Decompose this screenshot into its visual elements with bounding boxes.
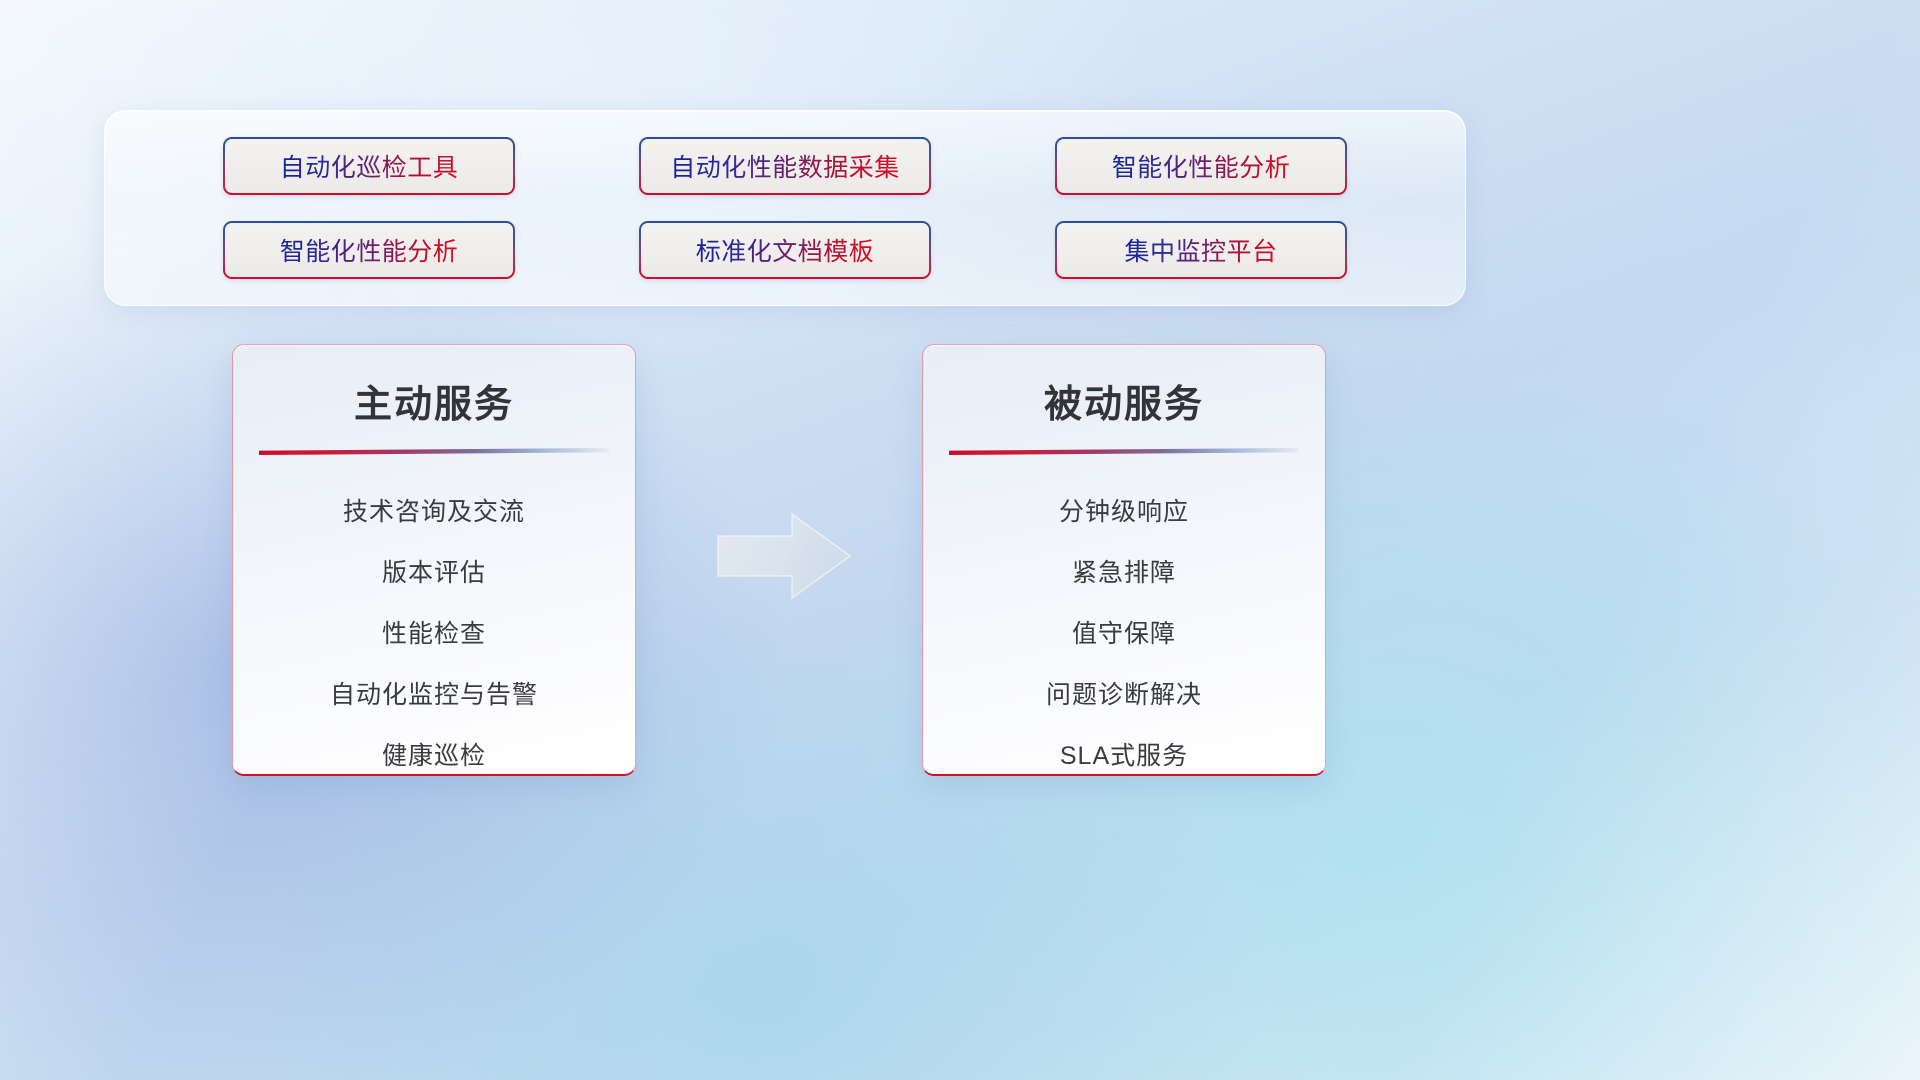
service-card-reactive-divider bbox=[949, 448, 1299, 456]
capability-pill-4-label: 智能化性能分析 bbox=[280, 232, 459, 268]
capability-pill-5-body: 标准化文档模板 bbox=[641, 223, 929, 277]
capabilities-grid: 自动化巡检工具 自动化性能数据采集 智能化性能分析 智能化性能分析 标准化文档模… bbox=[105, 111, 1465, 305]
list-item: 版本评估 bbox=[233, 543, 635, 604]
capability-pill-1[interactable]: 自动化巡检工具 bbox=[223, 137, 515, 195]
capability-pill-2-label: 自动化性能数据采集 bbox=[670, 148, 900, 184]
capability-pill-2-body: 自动化性能数据采集 bbox=[641, 139, 929, 193]
list-item: 健康巡检 bbox=[233, 726, 635, 776]
list-item: 问题诊断解决 bbox=[923, 665, 1325, 726]
capability-pill-6-body: 集中监控平台 bbox=[1057, 223, 1345, 277]
list-item: 值守保障 bbox=[923, 604, 1325, 665]
capability-pill-3[interactable]: 智能化性能分析 bbox=[1055, 137, 1347, 195]
capability-pill-2[interactable]: 自动化性能数据采集 bbox=[639, 137, 931, 195]
capability-pill-4[interactable]: 智能化性能分析 bbox=[223, 221, 515, 279]
list-item: 性能检查 bbox=[233, 604, 635, 665]
capability-pill-5[interactable]: 标准化文档模板 bbox=[639, 221, 931, 279]
capability-pill-1-label: 自动化巡检工具 bbox=[280, 148, 459, 184]
service-card-reactive-list: 分钟级响应 紧急排障 值守保障 问题诊断解决 SLA式服务 bbox=[923, 482, 1325, 776]
service-card-proactive-divider bbox=[259, 448, 609, 456]
capabilities-panel: 自动化巡检工具 自动化性能数据采集 智能化性能分析 智能化性能分析 标准化文档模… bbox=[104, 110, 1466, 306]
capability-pill-4-body: 智能化性能分析 bbox=[225, 223, 513, 277]
list-item: 紧急排障 bbox=[923, 543, 1325, 604]
service-card-reactive-title: 被动服务 bbox=[923, 373, 1325, 428]
list-item: 分钟级响应 bbox=[923, 482, 1325, 543]
list-item: SLA式服务 bbox=[923, 726, 1325, 776]
service-card-proactive-title: 主动服务 bbox=[233, 373, 635, 428]
capability-pill-3-label: 智能化性能分析 bbox=[1112, 148, 1291, 184]
service-card-reactive: 被动服务 分钟级响应 紧急排障 值守保障 问题诊断解决 SLA式服务 bbox=[922, 344, 1326, 776]
capability-pill-1-body: 自动化巡检工具 bbox=[225, 139, 513, 193]
right-arrow-icon bbox=[714, 508, 854, 604]
list-item: 技术咨询及交流 bbox=[233, 482, 635, 543]
list-item: 自动化监控与告警 bbox=[233, 665, 635, 726]
capability-pill-6-label: 集中监控平台 bbox=[1124, 232, 1277, 268]
capability-pill-3-body: 智能化性能分析 bbox=[1057, 139, 1345, 193]
service-card-proactive: 主动服务 技术咨询及交流 版本评估 性能检查 自动化监控与告警 健康巡检 bbox=[232, 344, 636, 776]
capability-pill-6[interactable]: 集中监控平台 bbox=[1055, 221, 1347, 279]
service-card-proactive-list: 技术咨询及交流 版本评估 性能检查 自动化监控与告警 健康巡检 bbox=[233, 482, 635, 776]
capability-pill-5-label: 标准化文档模板 bbox=[696, 232, 875, 268]
